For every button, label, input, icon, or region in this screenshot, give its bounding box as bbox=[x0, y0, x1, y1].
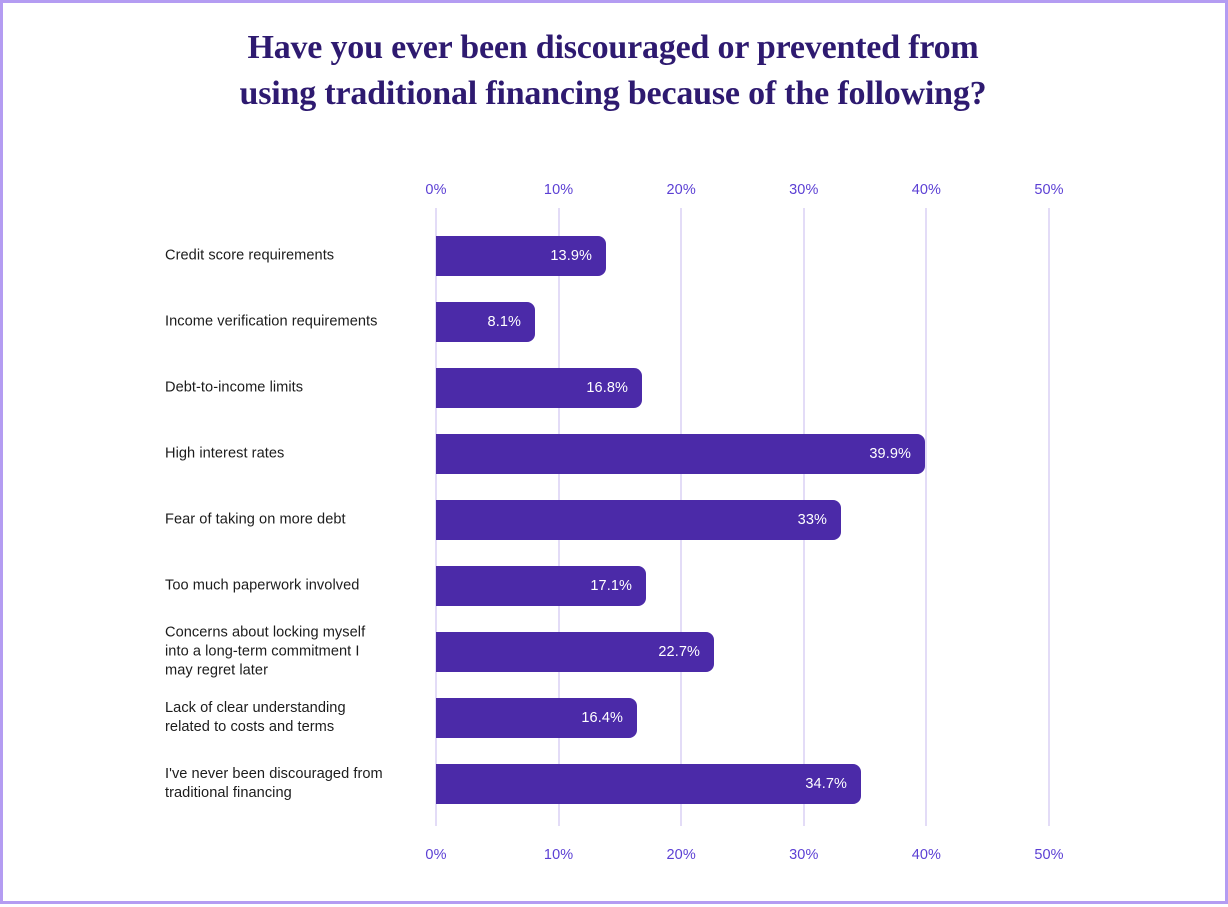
axis-tick-bottom-50pct: 50% bbox=[1019, 847, 1079, 863]
bar[interactable]: 13.9% bbox=[436, 236, 606, 276]
bar[interactable]: 39.9% bbox=[436, 434, 925, 474]
bar[interactable]: 16.4% bbox=[436, 698, 637, 738]
category-label: Credit score requirements bbox=[165, 247, 415, 266]
bar-value-label: 13.9% bbox=[550, 248, 592, 264]
chart-row: Income verification requirements8.1% bbox=[3, 302, 1228, 342]
axis-tick-top-20pct: 20% bbox=[651, 182, 711, 198]
bar[interactable]: 33% bbox=[436, 500, 841, 540]
axis-tick-top-50pct: 50% bbox=[1019, 182, 1079, 198]
category-label: Fear of taking on more debt bbox=[165, 511, 415, 530]
bar-value-label: 16.4% bbox=[581, 710, 623, 726]
axis-tick-bottom-10pct: 10% bbox=[529, 847, 589, 863]
chart-plot-area: 0%0%10%10%20%20%30%30%40%40%50%50%Credit… bbox=[3, 3, 1228, 907]
category-label: Concerns about locking myself into a lon… bbox=[165, 624, 415, 681]
chart-row: Too much paperwork involved17.1% bbox=[3, 566, 1228, 606]
chart-row: Concerns about locking myself into a lon… bbox=[3, 632, 1228, 672]
axis-tick-bottom-40pct: 40% bbox=[896, 847, 956, 863]
axis-tick-bottom-20pct: 20% bbox=[651, 847, 711, 863]
category-label: Too much paperwork involved bbox=[165, 577, 415, 596]
bar[interactable]: 17.1% bbox=[436, 566, 646, 606]
chart-row: I've never been discouraged from traditi… bbox=[3, 764, 1228, 804]
axis-tick-top-30pct: 30% bbox=[774, 182, 834, 198]
axis-tick-bottom-30pct: 30% bbox=[774, 847, 834, 863]
bar-value-label: 34.7% bbox=[805, 776, 847, 792]
bar-value-label: 33% bbox=[798, 512, 827, 528]
category-label: High interest rates bbox=[165, 445, 415, 464]
category-label: I've never been discouraged from traditi… bbox=[165, 765, 415, 803]
bar[interactable]: 22.7% bbox=[436, 632, 714, 672]
axis-tick-top-10pct: 10% bbox=[529, 182, 589, 198]
bar-value-label: 22.7% bbox=[658, 644, 700, 660]
chart-row: Credit score requirements13.9% bbox=[3, 236, 1228, 276]
bar[interactable]: 16.8% bbox=[436, 368, 642, 408]
category-label: Lack of clear understanding related to c… bbox=[165, 699, 415, 737]
category-label: Debt-to-income limits bbox=[165, 379, 415, 398]
chart-row: Lack of clear understanding related to c… bbox=[3, 698, 1228, 738]
bar[interactable]: 8.1% bbox=[436, 302, 535, 342]
axis-tick-top-0pct: 0% bbox=[406, 182, 466, 198]
bar-value-label: 17.1% bbox=[590, 578, 632, 594]
chart-row: Fear of taking on more debt33% bbox=[3, 500, 1228, 540]
bar-value-label: 16.8% bbox=[586, 380, 628, 396]
chart-page: Have you ever been discouraged or preven… bbox=[0, 0, 1228, 904]
bar-value-label: 8.1% bbox=[488, 314, 521, 330]
axis-tick-bottom-0pct: 0% bbox=[406, 847, 466, 863]
chart-row: Debt-to-income limits16.8% bbox=[3, 368, 1228, 408]
bar[interactable]: 34.7% bbox=[436, 764, 861, 804]
axis-tick-top-40pct: 40% bbox=[896, 182, 956, 198]
category-label: Income verification requirements bbox=[165, 313, 415, 332]
bar-value-label: 39.9% bbox=[869, 446, 911, 462]
chart-row: High interest rates39.9% bbox=[3, 434, 1228, 474]
